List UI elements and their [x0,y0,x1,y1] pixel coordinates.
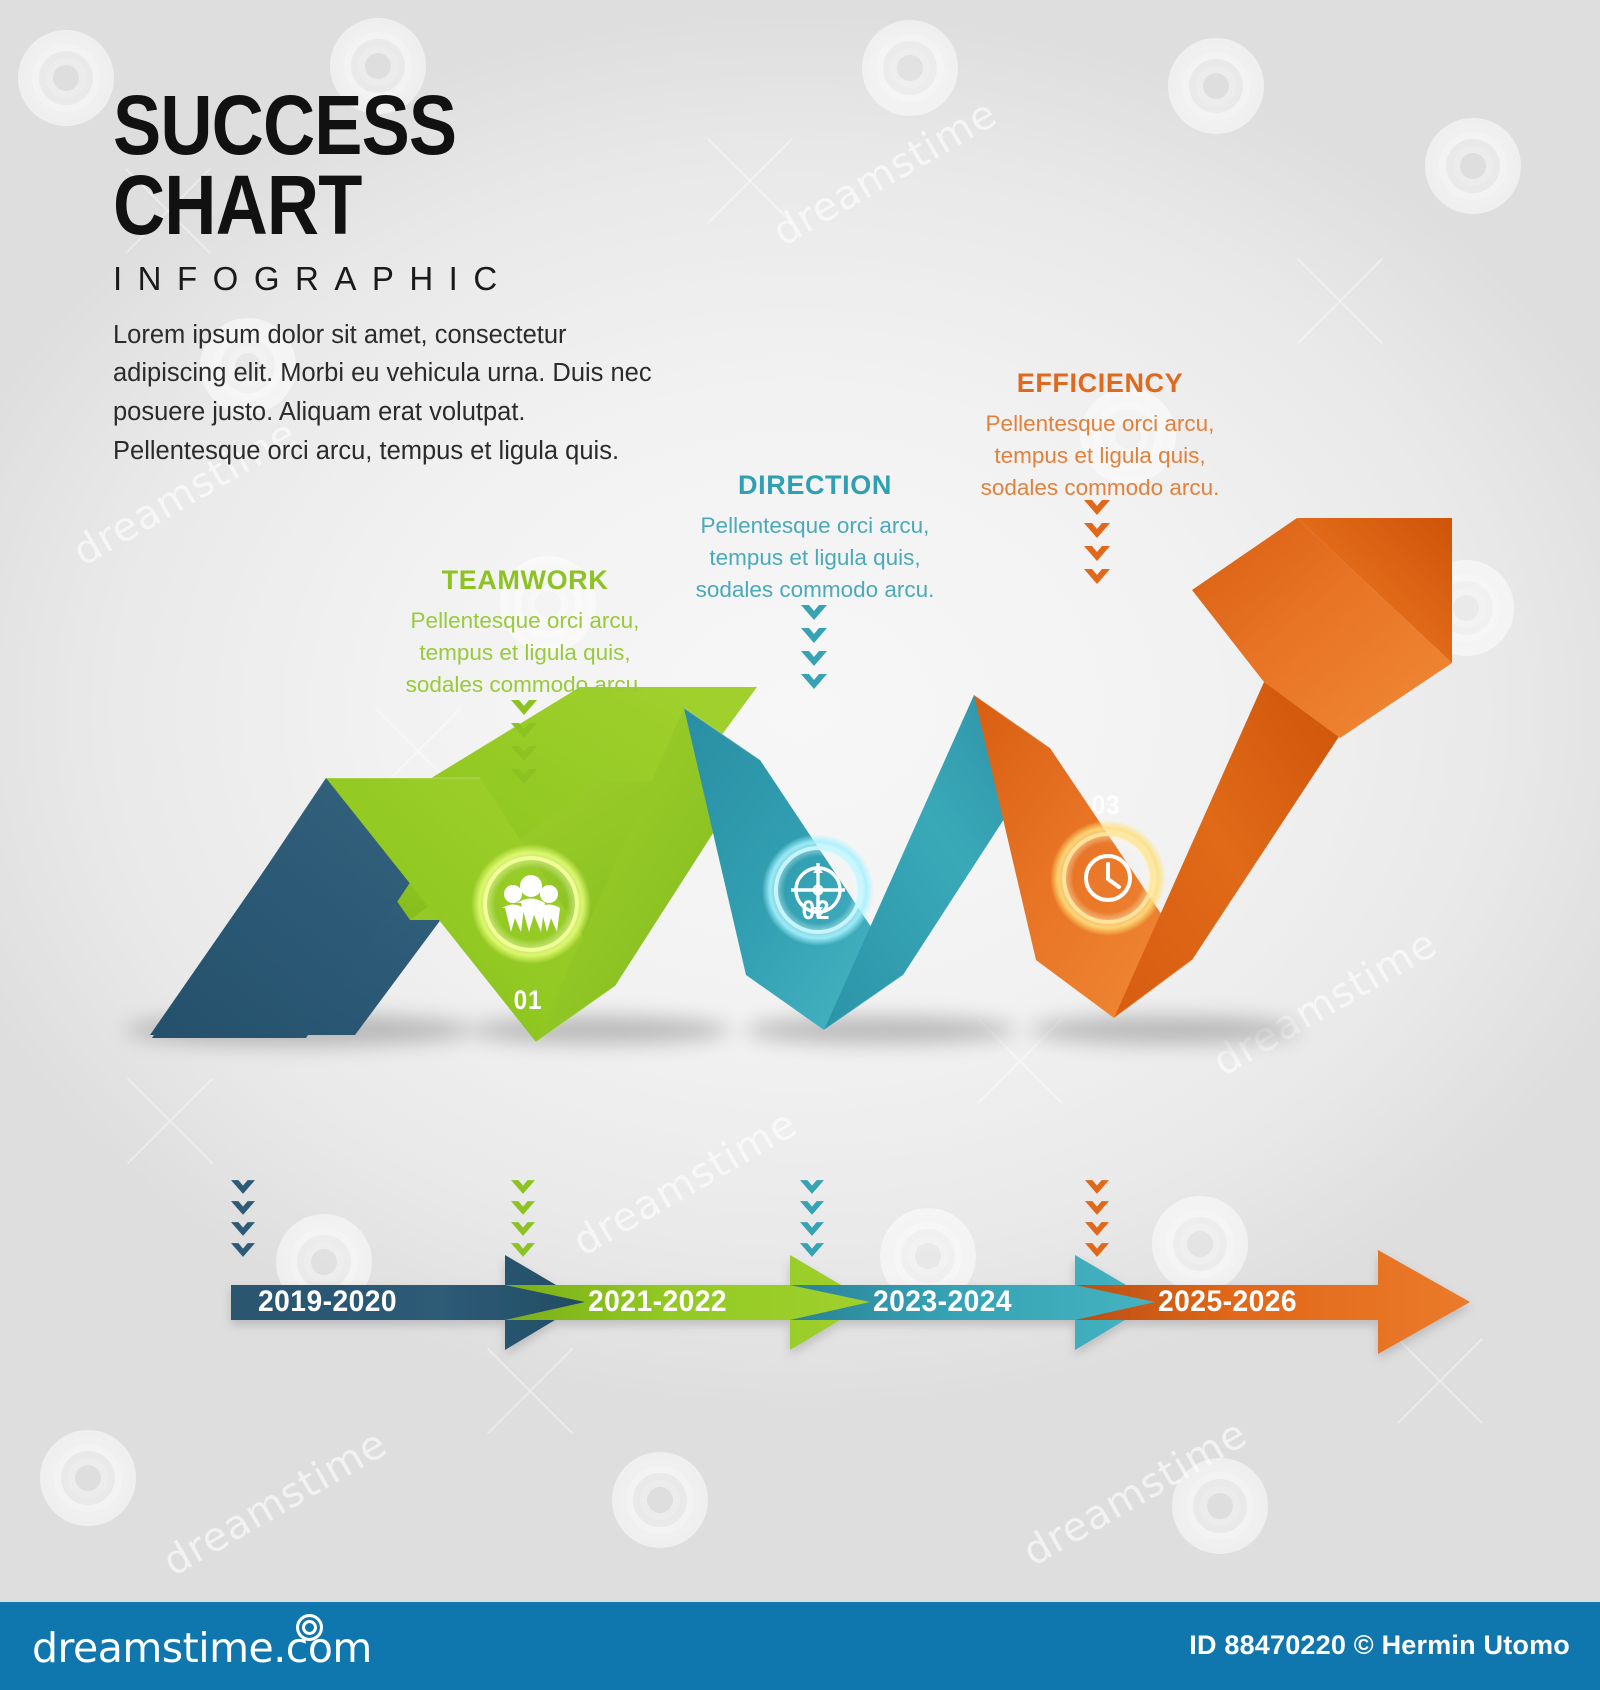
milestone-body-01: Pellentesque orci arcu, tempus et ligula… [400,605,650,701]
milestone-body-02: Pellentesque orci arcu, tempus et ligula… [690,510,940,606]
chevron-down-icon [511,769,537,784]
infographic-canvas: dreamstime dreamstime dreamstime dreamst… [0,0,1600,1690]
chevron-down-icon [801,605,827,620]
watermark-spiral-icon [18,30,114,126]
milestone-connector-03 [1084,500,1110,584]
milestone-body-line: Pellentesque orci arcu, [400,605,650,637]
step-number-01: 01 [514,985,543,1016]
milestone-title-03: EFFICIENCY [975,368,1225,399]
milestone-body-line: Pellentesque orci arcu, [975,408,1225,440]
milestone-body-03: Pellentesque orci arcu, tempus et ligula… [975,408,1225,504]
milestone-body-line: tempus et ligula quis, [400,637,650,669]
milestone-body-line: sodales commodo arcu. [690,574,940,606]
milestone-body-line: sodales commodo arcu. [400,669,650,701]
chevron-down-icon [801,651,827,666]
milestone-block-01: TEAMWORK Pellentesque orci arcu, tempus … [400,565,650,701]
chevron-down-icon [511,723,537,738]
step-number-02: 02 [802,895,831,926]
timeline-arrow-bar [0,1180,1600,1410]
milestone-title-02: DIRECTION [690,470,940,501]
watermark-spiral-icon [862,20,958,116]
chevron-down-icon [1084,569,1110,584]
timeline-label-1: 2019-2020 [258,1285,397,1319]
watermark-spiral-icon [1172,1458,1268,1554]
milestone-connector-01 [511,700,537,784]
milestone-block-03: EFFICIENCY Pellentesque orci arcu, tempu… [975,368,1225,504]
milestone-icon-02[interactable] [762,834,874,946]
milestone-block-02: DIRECTION Pellentesque orci arcu, tempus… [690,470,940,606]
watermark-spiral-icon [1425,118,1521,214]
chevron-down-icon [801,628,827,643]
chevron-down-icon [801,674,827,689]
watermark-x-icon [110,1060,230,1180]
chevron-down-icon [511,746,537,761]
header-block: SUCCESS CHART INFOGRAPHIC Lorem ipsum do… [113,86,733,471]
watermark-x-icon [1280,240,1400,360]
milestone-title-01: TEAMWORK [400,565,650,596]
watermark-spiral-icon [40,1430,136,1526]
watermark-spiral-icon [612,1452,708,1548]
page-subtitle: INFOGRAPHIC [113,260,733,298]
page-title: SUCCESS CHART [113,86,646,246]
milestone-icon-01[interactable] [471,844,591,964]
timeline-label-3: 2023-2024 [873,1285,1012,1319]
milestone-body-line: tempus et ligula quis, [975,440,1225,472]
milestone-icon-03[interactable] [1050,820,1166,936]
footer-bar: dreamstime.com ID 88470220 © Hermin Utom… [0,1602,1600,1690]
image-credit: ID 88470220 © Hermin Utomo [1189,1630,1570,1661]
chevron-down-icon [1084,546,1110,561]
milestone-connector-02 [801,605,827,689]
chevron-down-icon [511,700,537,715]
watermark-text: dreamstime [1015,1411,1255,1576]
step-number-03: 03 [1092,790,1121,821]
watermark-spiral-icon [1168,38,1264,134]
arrow-head [1192,518,1452,738]
chevron-down-icon [1084,523,1110,538]
spiral-logo-icon [296,1614,323,1641]
timeline-block: 2019-2020 2021-2022 2023-2024 2025-2026 [0,1180,1600,1410]
watermark-text: dreamstime [765,91,1005,256]
watermark-text: dreamstime [155,1421,395,1586]
timeline-label-2: 2021-2022 [588,1285,727,1319]
milestone-body-line: tempus et ligula quis, [690,542,940,574]
chevron-down-icon [1084,500,1110,515]
timeline-label-4: 2025-2026 [1158,1285,1297,1319]
milestone-body-line: Pellentesque orci arcu, [690,510,940,542]
